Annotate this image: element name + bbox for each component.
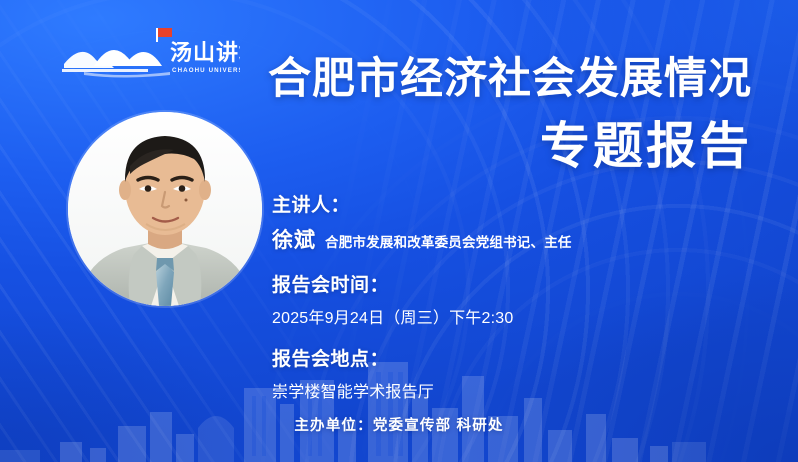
- mountain-logo-icon: [62, 50, 170, 78]
- place-label: 报告会地点：: [272, 344, 742, 371]
- place-value: 崇学楼智能学术报告厅: [272, 378, 742, 402]
- speaker-row: 徐斌 合肥市发展和改革委员会党组书记、主任: [272, 224, 742, 254]
- time-value: 2025年9月24日（周三）下午2:30: [272, 304, 742, 328]
- event-details: 主讲人： 徐斌 合肥市发展和改革委员会党组书记、主任 报告会时间： 2025年9…: [272, 190, 742, 402]
- headline-line-1: 合肥市经济社会发展情况: [212, 58, 752, 101]
- time-label: 报告会时间：: [272, 270, 742, 297]
- event-poster: 汤山讲坛 CHAOHU UNIVERSITY: [0, 0, 798, 462]
- headline-line-2: 专题报告: [212, 121, 752, 171]
- speaker-label: 主讲人：: [272, 190, 742, 217]
- poster-headline: 合肥市经济社会发展情况 专题报告: [212, 58, 752, 171]
- organizer-footer: 主办单位：党委宣传部 科研处: [0, 414, 798, 435]
- speaker-name: 徐斌: [272, 224, 316, 254]
- speaker-title: 合肥市发展和改革委员会党组书记、主任: [325, 231, 572, 251]
